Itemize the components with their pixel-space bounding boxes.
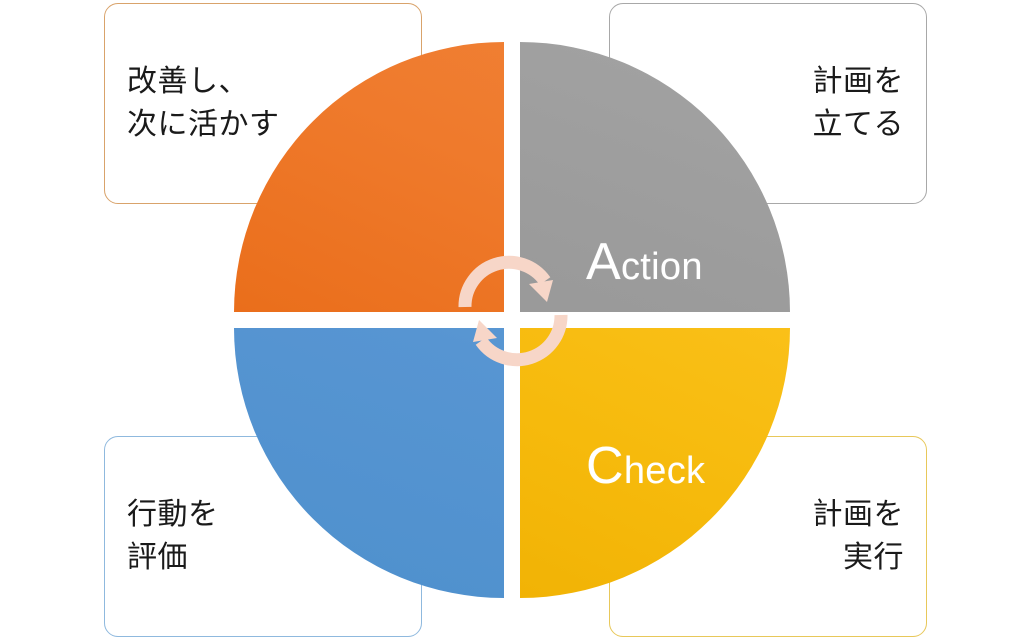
cycle-arrows (455, 253, 571, 369)
quadrant-label-plan-cap: P (800, 233, 835, 291)
quadrant-label-action: Action (586, 232, 703, 292)
callout-plan-line-2: 立てる (813, 104, 905, 147)
quadrant-label-do-rest: o (849, 450, 870, 492)
quadrant-label-do: Do (811, 436, 870, 496)
quadrant-label-check-rest: heck (624, 450, 705, 492)
callout-check-line-2: 評価 (127, 537, 188, 580)
callout-do-line-2: 実行 (843, 537, 904, 580)
cycle-arrows-svg (455, 253, 571, 369)
cycle-arrow-bottom (473, 315, 561, 360)
callout-do-line-1: 計画を (813, 494, 905, 537)
callout-plan-line-1: 計画を (813, 61, 905, 104)
cycle-arrow-top (465, 262, 553, 307)
quadrant-label-do-cap: D (811, 437, 849, 495)
callout-check-line-1: 行動を (127, 494, 219, 537)
quadrant-label-plan-rest: lan (835, 246, 887, 288)
quadrant-label-action-rest: ction (621, 246, 703, 288)
callout-action-line-1: 改善し、 (127, 61, 249, 104)
quadrant-label-action-cap: A (586, 233, 621, 291)
quadrant-label-plan: Plan (800, 232, 887, 292)
quadrant-label-check: Check (586, 436, 705, 496)
quadrant-label-check-cap: C (586, 437, 624, 495)
pdca-diagram-canvas: 改善し、 次に活かす 計画を 立てる 行動を 評価 計画を 実行 Action (0, 0, 1024, 641)
